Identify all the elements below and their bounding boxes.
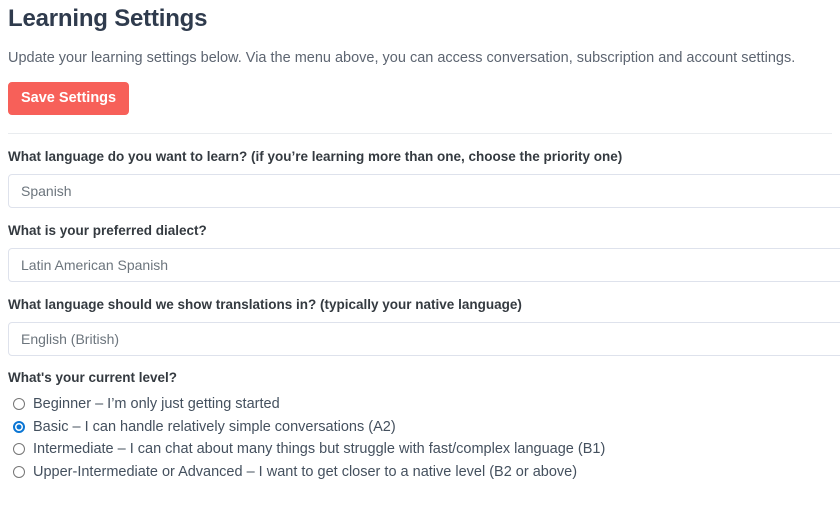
field-label-dialect: What is your preferred dialect? <box>8 222 832 240</box>
field-label-learn-language: What language do you want to learn? (if … <box>8 148 832 166</box>
translation-language-input[interactable] <box>8 322 840 356</box>
field-label-translation-language: What language should we show translation… <box>8 296 832 314</box>
current-level-radio-group: Beginner – I’m only just getting started… <box>8 393 832 483</box>
radio-label-upper-intermediate[interactable]: Upper-Intermediate or Advanced – I want … <box>33 462 577 482</box>
radio-upper-intermediate[interactable] <box>13 466 25 478</box>
save-button-row: Save Settings <box>8 68 832 115</box>
radio-basic[interactable] <box>13 421 25 433</box>
dialect-input[interactable] <box>8 248 840 282</box>
radio-label-beginner[interactable]: Beginner – I’m only just getting started <box>33 394 280 414</box>
field-label-current-level: What's your current level? <box>8 369 832 387</box>
radio-row-intermediate[interactable]: Intermediate – I can chat about many thi… <box>8 438 832 460</box>
radio-row-beginner[interactable]: Beginner – I’m only just getting started <box>8 393 832 415</box>
learning-settings-page: Learning Settings Update your learning s… <box>0 0 840 527</box>
page-title: Learning Settings <box>8 0 832 34</box>
radio-label-intermediate[interactable]: Intermediate – I can chat about many thi… <box>33 439 605 459</box>
field-learn-language: What language do you want to learn? (if … <box>8 134 832 208</box>
field-translation-language: What language should we show translation… <box>8 282 832 356</box>
save-settings-button[interactable]: Save Settings <box>8 82 129 115</box>
radio-label-basic[interactable]: Basic – I can handle relatively simple c… <box>33 417 396 437</box>
radio-row-upper-intermediate[interactable]: Upper-Intermediate or Advanced – I want … <box>8 461 832 483</box>
radio-row-basic[interactable]: Basic – I can handle relatively simple c… <box>8 416 832 438</box>
radio-intermediate[interactable] <box>13 443 25 455</box>
field-current-level: What's your current level? Beginner – I’… <box>8 356 832 483</box>
learn-language-input[interactable] <box>8 174 840 208</box>
field-dialect: What is your preferred dialect? <box>8 208 832 282</box>
radio-beginner[interactable] <box>13 398 25 410</box>
page-description: Update your learning settings below. Via… <box>8 34 832 68</box>
